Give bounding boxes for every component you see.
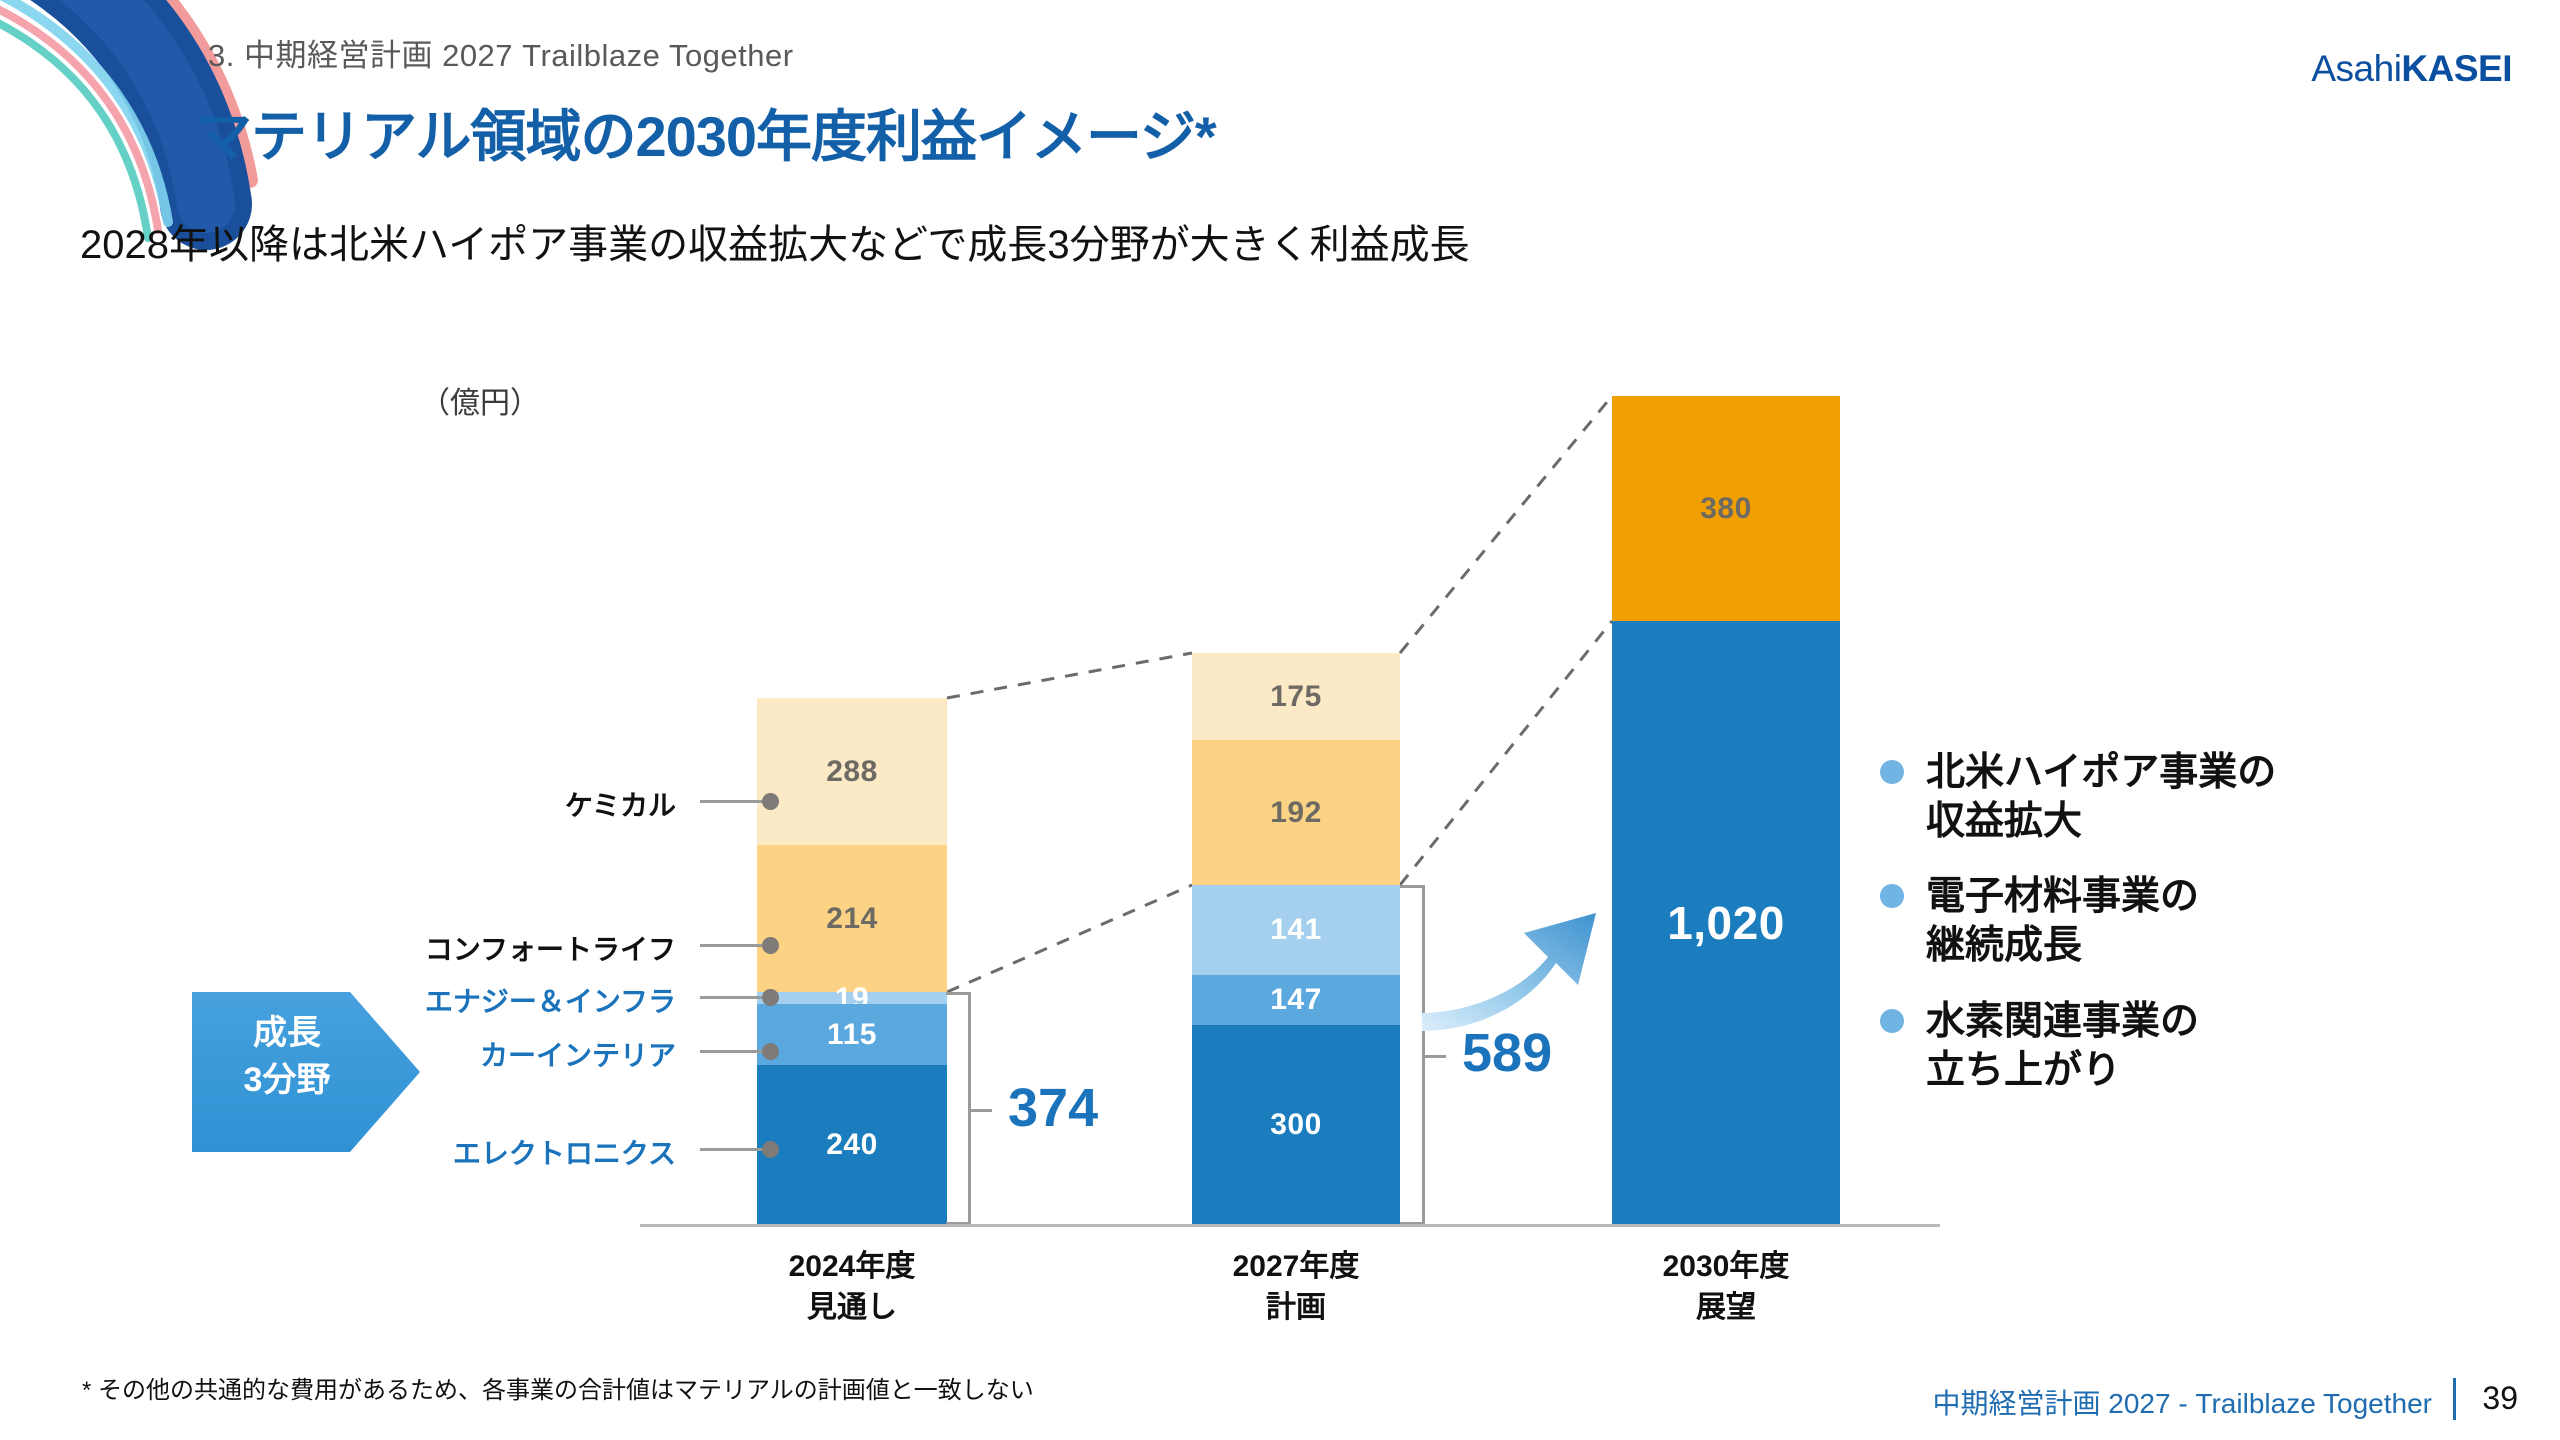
page-number: 39 xyxy=(2482,1380,2518,1417)
xaxis-label-2027-line2: 計画 xyxy=(1181,1287,1411,1328)
bar-2024-segment-electronics: 240 xyxy=(757,1065,947,1225)
growth-total-2024: 374 xyxy=(1008,1077,1098,1139)
bullet-dot-icon xyxy=(1880,1009,1904,1033)
bar-2030-segment-other: 380 xyxy=(1612,396,1840,621)
bar-2030-value-growth-three: 1,020 xyxy=(1667,896,1785,950)
profit-image-stacked-bar-chart: （億円） 288 214 19 115 240 175 192 141 147 … xyxy=(0,0,2560,1440)
bar-2027-value-electronics: 300 xyxy=(1270,1108,1322,1142)
bar-2024-value-comfort-life: 214 xyxy=(826,902,878,936)
bar-2024-value-car-interior: 115 xyxy=(827,1018,877,1052)
bar-2027-segment-chemical: 175 xyxy=(1192,653,1400,740)
leader-dot-comfort-life xyxy=(762,937,779,954)
leader-dot-car-interior xyxy=(762,1043,779,1060)
leader-dot-chemical xyxy=(762,793,779,810)
leader-line-comfort-life xyxy=(700,944,768,947)
bar-2024: 288 214 19 115 240 xyxy=(757,698,947,1225)
bar-2024-segment-energy-infra: 19 xyxy=(757,992,947,1004)
bullet-dot-icon xyxy=(1880,884,1904,908)
callout-label-comfort-life: コンフォートライフ xyxy=(425,928,676,968)
bar-2024-segment-car-interior: 115 xyxy=(757,1004,947,1065)
xaxis-label-2030: 2030年度 展望 xyxy=(1611,1246,1841,1329)
callout-label-energy-infra: エナジー＆インフラ xyxy=(425,980,676,1020)
bullet-text-1: 北米ハイポア事業の 収益拡大 xyxy=(1926,748,2276,846)
bullet-text-2: 電子材料事業の 継続成長 xyxy=(1926,872,2199,970)
callout-label-car-interior: カーインテリア xyxy=(480,1034,676,1074)
list-item: 水素関連事業の 立ち上がり xyxy=(1880,997,2520,1095)
chart-baseline-axis xyxy=(640,1224,1940,1227)
bar-2024-value-electronics: 240 xyxy=(826,1128,878,1162)
list-item: 北米ハイポア事業の 収益拡大 xyxy=(1880,748,2520,846)
bar-2030-value-other: 380 xyxy=(1700,492,1752,526)
bar-2027-value-comfort-life: 192 xyxy=(1270,796,1322,830)
leader-dot-energy-infra xyxy=(762,989,779,1006)
xaxis-label-2024: 2024年度 見通し xyxy=(737,1246,967,1329)
bar-2024-segment-chemical: 288 xyxy=(757,698,947,845)
list-item: 電子材料事業の 継続成長 xyxy=(1880,872,2520,970)
leader-line-electronics xyxy=(700,1148,768,1151)
growth-three-fields-badge xyxy=(192,992,420,1152)
bar-2027-value-chemical: 175 xyxy=(1270,680,1322,714)
callout-label-chemical: ケミカル xyxy=(565,784,676,824)
footer-divider xyxy=(2453,1378,2456,1420)
bar-2030-segment-growth-three: 1,020 xyxy=(1612,621,1840,1225)
bar-2024-segment-comfort-life: 214 xyxy=(757,845,947,992)
bar-2027: 175 192 141 147 300 xyxy=(1192,653,1400,1225)
leader-line-car-interior xyxy=(700,1050,768,1053)
footnote: * その他の共通的な費用があるため、各事業の合計値はマテリアルの計画値と一致しな… xyxy=(82,1370,1034,1405)
xaxis-label-2030-line2: 展望 xyxy=(1611,1287,1841,1328)
bar-2027-segment-energy-infra: 141 xyxy=(1192,885,1400,975)
growth-total-2027: 589 xyxy=(1462,1022,1552,1084)
key-drivers-list: 北米ハイポア事業の 収益拡大 電子材料事業の 継続成長 水素関連事業の 立ち上が… xyxy=(1880,748,2520,1121)
bar-2027-value-car-interior: 147 xyxy=(1270,983,1322,1017)
bullet-text-3: 水素関連事業の 立ち上がり xyxy=(1926,997,2199,1095)
bar-2030: 380 1,020 xyxy=(1612,396,1840,1225)
leader-dot-electronics xyxy=(762,1141,779,1158)
callout-label-electronics: エレクトロニクス xyxy=(453,1132,676,1172)
bullet-dot-icon xyxy=(1880,760,1904,784)
xaxis-label-2027-line1: 2027年度 xyxy=(1181,1246,1411,1287)
bar-2027-segment-electronics: 300 xyxy=(1192,1025,1400,1225)
bar-2027-segment-comfort-life: 192 xyxy=(1192,740,1400,885)
leader-line-energy-infra xyxy=(700,996,768,999)
leader-line-chemical xyxy=(700,800,768,803)
xaxis-label-2030-line1: 2030年度 xyxy=(1611,1246,1841,1287)
xaxis-label-2024-line1: 2024年度 xyxy=(737,1246,967,1287)
xaxis-label-2024-line2: 見通し xyxy=(737,1287,967,1328)
bar-2027-segment-car-interior: 147 xyxy=(1192,975,1400,1025)
xaxis-label-2027: 2027年度 計画 xyxy=(1181,1246,1411,1329)
bar-2027-value-energy-infra: 141 xyxy=(1270,913,1322,947)
footer-title: 中期経営計画 2027 - Trailblaze Together xyxy=(1932,1382,2432,1422)
chart-unit-label: （億円） xyxy=(420,378,540,422)
bar-2024-value-chemical: 288 xyxy=(826,755,878,789)
